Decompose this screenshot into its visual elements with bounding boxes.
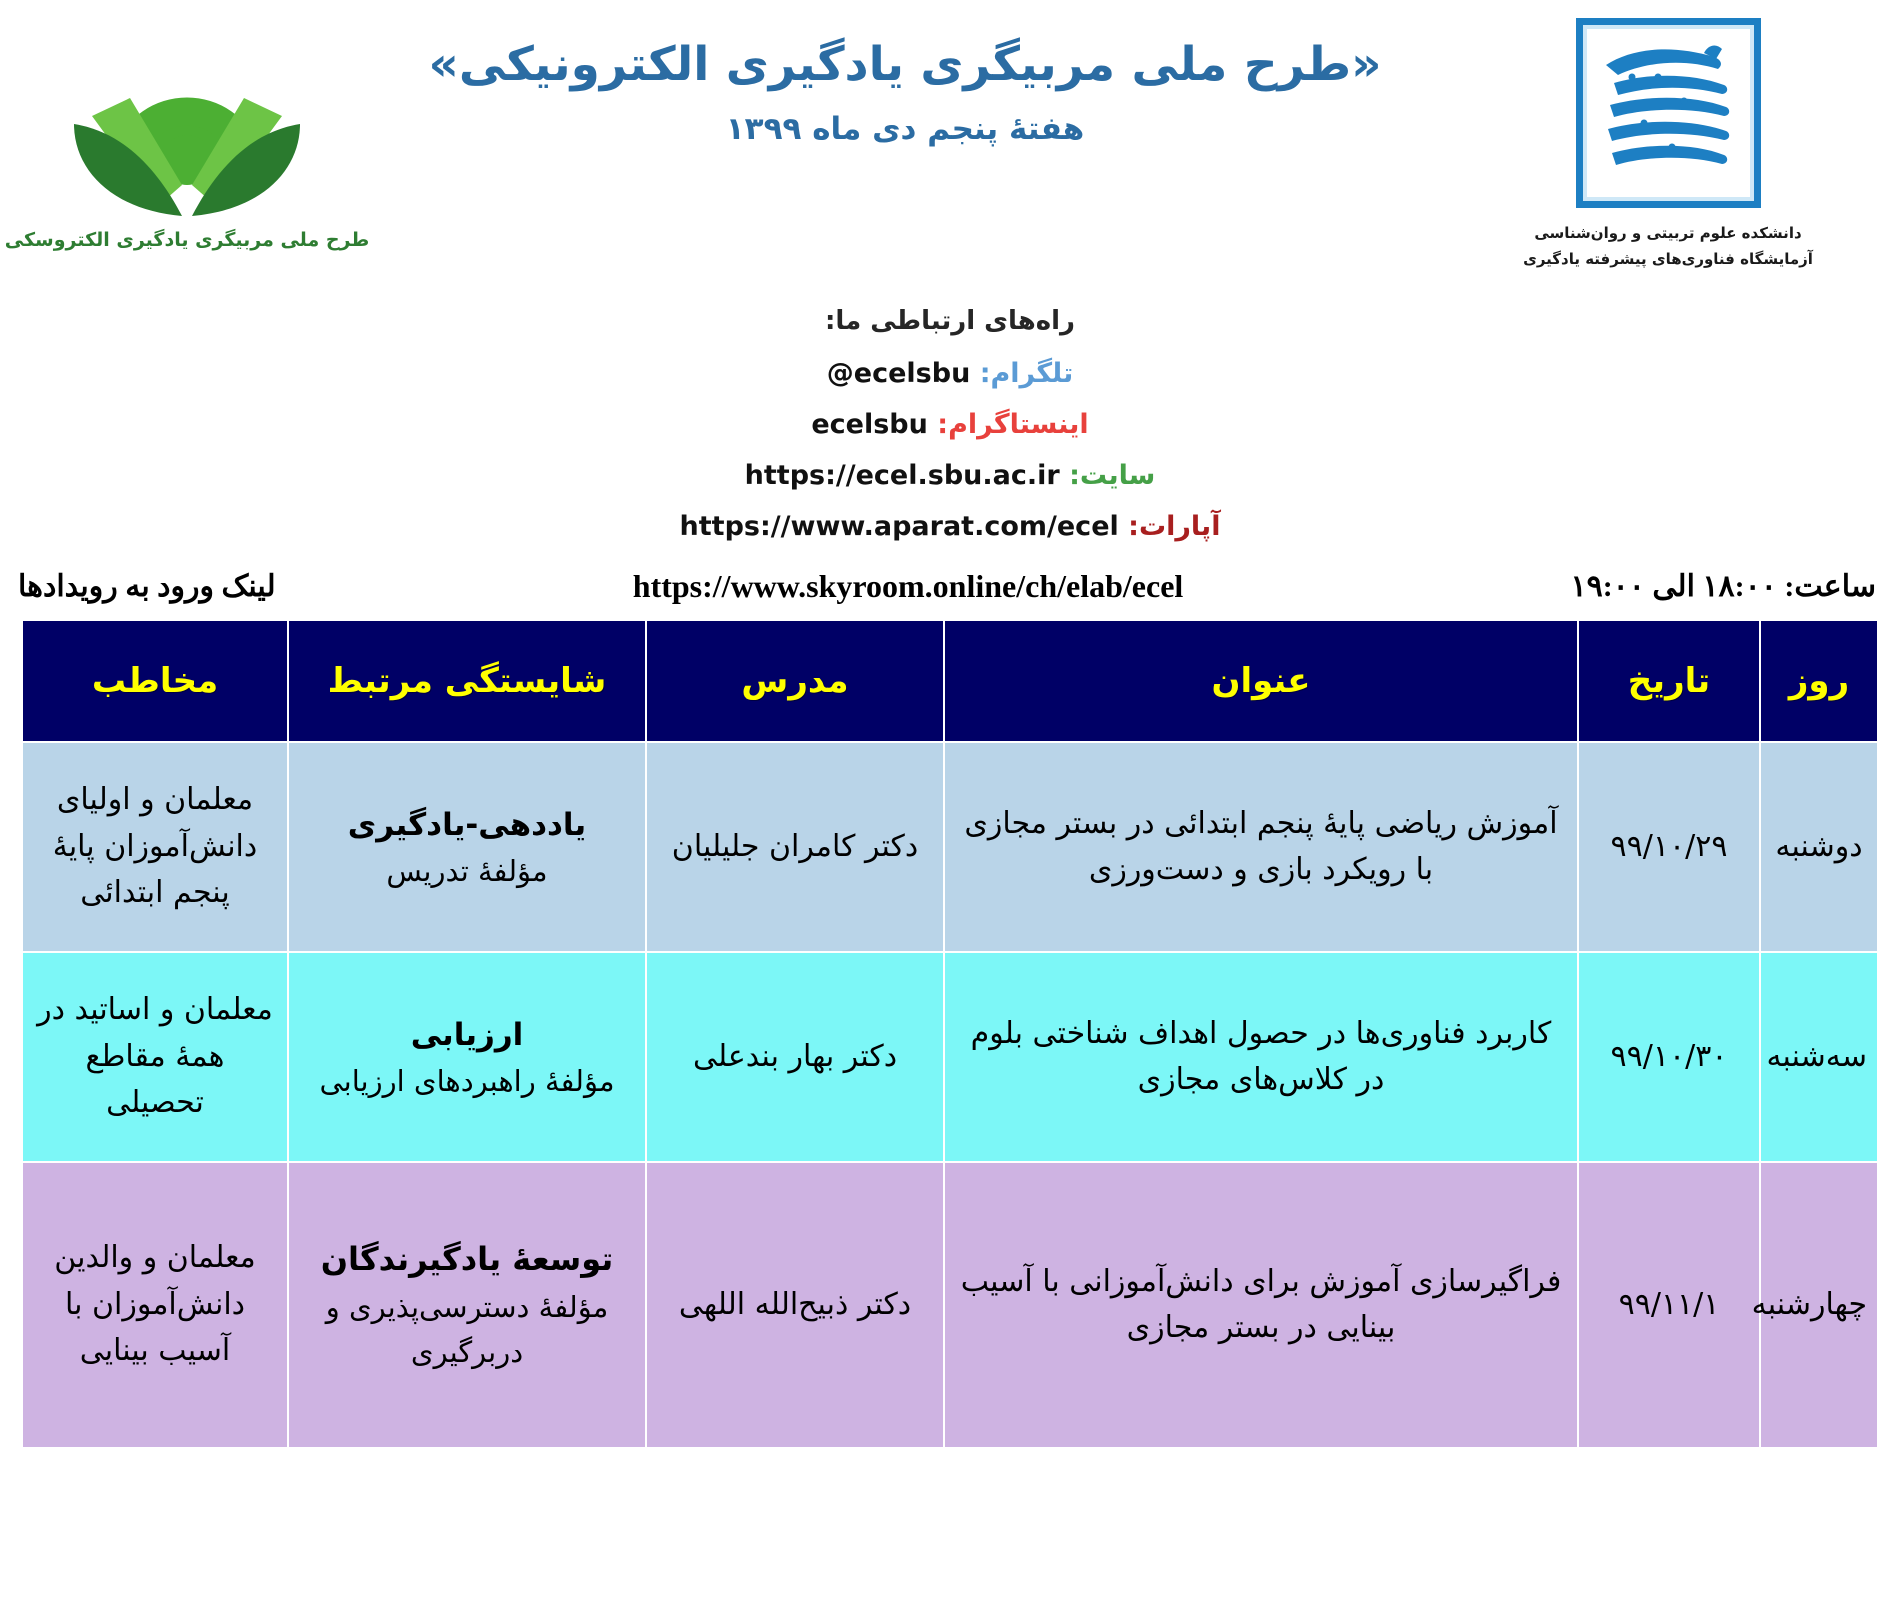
cell-audience: معلمان و والدین دانش‌آموزان با آسیب بینا… bbox=[22, 1162, 288, 1448]
university-caption: دانشکده علوم تربیتی و روان‌شناسی آزمایشگ… bbox=[1523, 221, 1813, 272]
competency-main: یاددهی-یادگیری bbox=[299, 801, 635, 849]
cell-instructor: دکتر بهار بندعلی bbox=[646, 952, 944, 1162]
cell-day: دوشنبه bbox=[1760, 742, 1878, 952]
event-entry-label: لینک ورود به رویدادها bbox=[18, 569, 276, 604]
competency-main: ارزیابی bbox=[299, 1011, 635, 1059]
contact-value-aparat[interactable]: https://www.aparat.com/ecel bbox=[680, 511, 1119, 542]
competency-sub: مؤلفهٔ راهبردهای ارزیابی bbox=[299, 1059, 635, 1104]
cell-competency: یاددهی-یادگیری مؤلفهٔ تدریس bbox=[288, 742, 646, 952]
contact-sep-site: : bbox=[1069, 460, 1080, 491]
competency-sub: مؤلفهٔ تدریس bbox=[299, 849, 635, 894]
contact-value-telegram[interactable]: @ecelsbu bbox=[827, 358, 971, 389]
faculty-name: دانشکده علوم تربیتی و روان‌شناسی bbox=[1523, 221, 1813, 247]
event-entry-url[interactable]: https://www.skyroom.online/ch/elab/ecel bbox=[633, 568, 1184, 605]
poster-header: طرح ملی مربیگری یادگیری الکتروسکی «طرح م… bbox=[0, 0, 1900, 300]
cell-day: چهارشنبه bbox=[1760, 1162, 1878, 1448]
column-header-title: عنوان bbox=[944, 620, 1578, 742]
table-row: دوشنبه ۹۹/۱۰/۲۹ آموزش ریاضی پایهٔ پنجم ا… bbox=[22, 742, 1878, 952]
table-header-row: روز تاریخ عنوان مدرس شایستگی مرتبط مخاطب bbox=[22, 620, 1878, 742]
contact-label-aparat: آپارات bbox=[1139, 511, 1220, 542]
table-row: سه‌شنبه ۹۹/۱۰/۳۰ کاربرد فناوری‌ها در حصو… bbox=[22, 952, 1878, 1162]
cell-date: ۹۹/۱۰/۳۰ bbox=[1578, 952, 1760, 1162]
lab-name: آزمایشگاه فناوری‌های پیشرفته یادگیری bbox=[1523, 247, 1813, 273]
table-row: چهارشنبه ۹۹/۱۱/۱ فراگیرسازی آموزش برای د… bbox=[22, 1162, 1878, 1448]
program-logo-caption: طرح ملی مربیگری یادگیری الکتروسکی bbox=[5, 229, 369, 251]
title-block: «طرح ملی مربیگری یادگیری الکترونیکی» هفت… bbox=[352, 14, 1458, 147]
ecel-program-logo-icon bbox=[62, 20, 312, 225]
event-time: ساعت: ۱۸:۰۰ الی ۱۹:۰۰ bbox=[1570, 569, 1876, 604]
contact-label-site: سایت bbox=[1080, 460, 1155, 491]
cell-title: فراگیرسازی آموزش برای دانش‌آموزانی با آس… bbox=[944, 1162, 1578, 1448]
schedule-table: روز تاریخ عنوان مدرس شایستگی مرتبط مخاطب… bbox=[21, 619, 1879, 1449]
contact-value-instagram[interactable]: ecelsbu bbox=[811, 409, 928, 440]
contact-heading: راه‌های ارتباطی ما: bbox=[0, 306, 1900, 336]
column-header-competency: شایستگی مرتبط bbox=[288, 620, 646, 742]
contact-label-instagram: اینستاگرام bbox=[948, 409, 1089, 440]
column-header-instructor: مدرس bbox=[646, 620, 944, 742]
cell-instructor: دکتر کامران جلیلیان bbox=[646, 742, 944, 952]
contact-value-site[interactable]: https://ecel.sbu.ac.ir bbox=[745, 460, 1060, 491]
cell-audience: معلمان و اولیای دانش‌آموزان پایهٔ پنجم ا… bbox=[22, 742, 288, 952]
cell-competency: توسعهٔ یادگیرندگان مؤلفهٔ دسترسی‌پذیری و… bbox=[288, 1162, 646, 1448]
contact-sep-aparat: : bbox=[1128, 511, 1139, 542]
cell-audience: معلمان و اساتید در همهٔ مقاطع تحصیلی bbox=[22, 952, 288, 1162]
contact-row-site: سایت: https://ecel.sbu.ac.ir bbox=[0, 460, 1900, 491]
competency-main: توسعهٔ یادگیرندگان bbox=[299, 1235, 635, 1285]
contact-label-telegram: تلگرام bbox=[991, 358, 1074, 389]
competency-sub: مؤلفهٔ دسترسی‌پذیری و دربرگیری bbox=[299, 1285, 635, 1375]
contact-sep-telegram: : bbox=[980, 358, 991, 389]
contact-sep-instagram: : bbox=[937, 409, 948, 440]
contact-row-telegram: تلگرام: @ecelsbu bbox=[0, 358, 1900, 389]
cell-day: سه‌شنبه bbox=[1760, 952, 1878, 1162]
page-title: «طرح ملی مربیگری یادگیری الکترونیکی» bbox=[352, 36, 1458, 95]
university-logo-block: دانشکده علوم تربیتی و روان‌شناسی آزمایشگ… bbox=[1458, 14, 1878, 272]
column-header-day: روز bbox=[1760, 620, 1878, 742]
cell-title: آموزش ریاضی پایهٔ پنجم ابتدائی در بستر م… bbox=[944, 742, 1578, 952]
contact-row-aparat: آپارات: https://www.aparat.com/ecel bbox=[0, 511, 1900, 542]
page-subtitle: هفتهٔ پنجم دی ماه ۱۳۹۹ bbox=[352, 111, 1458, 147]
column-header-audience: مخاطب bbox=[22, 620, 288, 742]
contact-row-instagram: اینستاگرام: ecelsbu bbox=[0, 409, 1900, 440]
contact-section: راه‌های ارتباطی ما: تلگرام: @ecelsbu این… bbox=[0, 300, 1900, 542]
cell-date: ۹۹/۱۱/۱ bbox=[1578, 1162, 1760, 1448]
cell-competency: ارزیابی مؤلفهٔ راهبردهای ارزیابی bbox=[288, 952, 646, 1162]
column-header-date: تاریخ bbox=[1578, 620, 1760, 742]
event-link-bar: ساعت: ۱۸:۰۰ الی ۱۹:۰۰ https://www.skyroo… bbox=[0, 562, 1900, 613]
cell-title: کاربرد فناوری‌ها در حصول اهداف شناختی بل… bbox=[944, 952, 1578, 1162]
cell-instructor: دکتر ذبیح‌الله اللهی bbox=[646, 1162, 944, 1448]
cell-date: ۹۹/۱۰/۲۹ bbox=[1578, 742, 1760, 952]
shahid-beheshti-university-logo-icon bbox=[1576, 18, 1761, 208]
program-logo-block: طرح ملی مربیگری یادگیری الکتروسکی bbox=[22, 14, 352, 251]
